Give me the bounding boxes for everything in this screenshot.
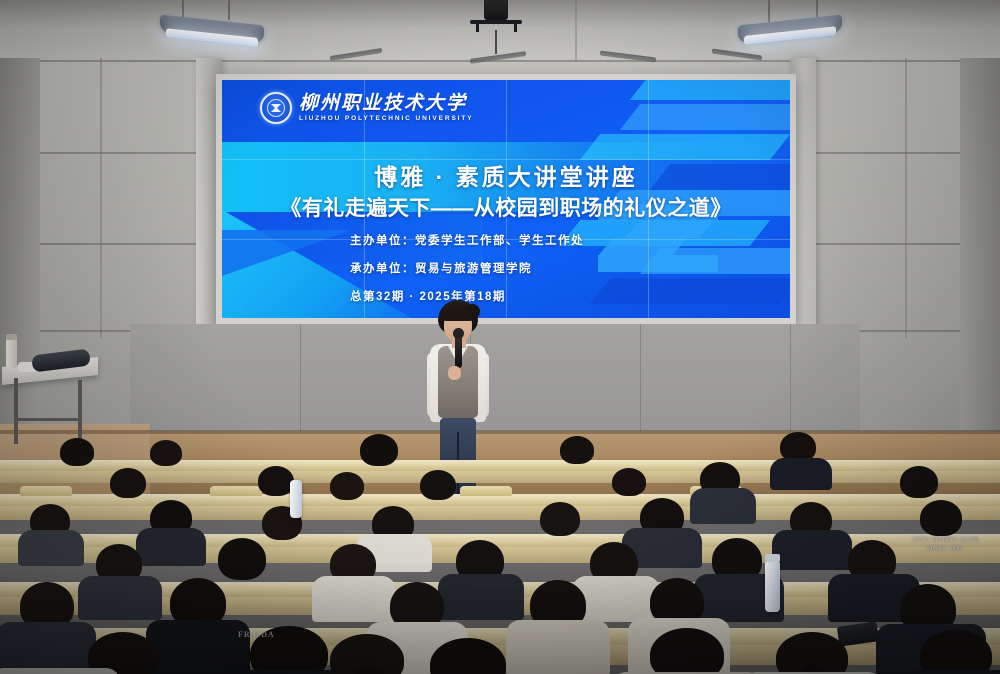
jacket-brand-text: ANTA SPORTS CLUB SINCE 1991 xyxy=(900,536,990,554)
audience-body xyxy=(772,530,852,570)
audience-head xyxy=(360,434,398,466)
slide-title: 博雅 · 素质大讲堂讲座 xyxy=(222,158,790,192)
led-video-wall[interactable]: 柳州职业技术大学 LIUZHOU POLYTECHNIC UNIVERSITY … xyxy=(216,74,796,324)
audience-head xyxy=(218,538,266,580)
bottle-cap xyxy=(765,554,780,562)
side-table-leg xyxy=(78,380,82,440)
slide-subtitle: 《有礼走遍天下——从校园到职场的礼仪之道》 xyxy=(222,192,790,222)
hoodie-brand-text: FRIEDA xyxy=(238,630,275,639)
audience-head xyxy=(60,438,94,466)
ceiling-projector xyxy=(470,0,522,36)
audience-head xyxy=(258,466,294,496)
audience-body xyxy=(136,528,206,566)
seat-back xyxy=(20,486,72,496)
led-screen-surface: 柳州职业技术大学 LIUZHOU POLYTECHNIC UNIVERSITY … xyxy=(222,80,790,318)
university-crest-icon xyxy=(260,92,292,124)
thermos-cap xyxy=(6,334,17,340)
audience-head xyxy=(560,436,594,464)
wall-seam xyxy=(905,58,907,338)
audience-body xyxy=(312,576,396,622)
meta-value: 贸易与旅游管理学院 xyxy=(415,263,532,275)
audience-body xyxy=(506,620,610,674)
audience-body xyxy=(690,488,756,524)
audience-head xyxy=(650,628,724,674)
audience-head xyxy=(900,466,938,498)
audience-body xyxy=(438,574,524,620)
handheld-microphone-icon xyxy=(455,334,462,368)
audience-head xyxy=(110,468,146,498)
audience-body xyxy=(18,530,84,566)
seat-back xyxy=(210,486,262,496)
desk-row xyxy=(0,460,1000,471)
lecture-hall-photo: 柳州职业技术大学 LIUZHOU POLYTECHNIC UNIVERSITY … xyxy=(0,0,1000,674)
meta-row-host: 承办单位：贸易与旅游管理学院 xyxy=(350,260,631,276)
university-name-en: LIUZHOU POLYTECHNIC UNIVERSITY xyxy=(299,116,474,123)
audience-head xyxy=(920,500,962,536)
wall-seam xyxy=(575,0,577,62)
audience-body xyxy=(896,670,1000,674)
audience-body xyxy=(0,622,96,674)
audience-body xyxy=(146,620,250,674)
meta-label: 主办单位： xyxy=(350,235,415,247)
white-thermos-bottle xyxy=(765,560,780,612)
wall-seam xyxy=(100,58,102,338)
right-wall-return xyxy=(960,58,1000,458)
audience-head xyxy=(420,470,456,500)
seat-back xyxy=(460,486,512,496)
pendant-light-left xyxy=(160,0,270,50)
university-name-cn: 柳州职业技术大学 xyxy=(299,94,474,113)
wall-seam xyxy=(0,60,1000,62)
side-table-rail xyxy=(14,418,82,421)
desk-bottle xyxy=(290,480,302,518)
desk-row-front xyxy=(0,471,1000,483)
audience-area: ANTA SPORTS CLUB SINCE 1991 FRIEDA xyxy=(0,432,1000,674)
audience-head xyxy=(330,472,364,500)
audience-head xyxy=(540,502,580,536)
audience-body xyxy=(0,668,120,674)
left-wall-return xyxy=(0,58,40,458)
meta-value: 党委学生工作部、学生工作处 xyxy=(415,235,584,247)
audience-head xyxy=(612,468,646,496)
audience-body xyxy=(770,458,832,490)
meta-label: 承办单位： xyxy=(350,263,415,275)
meta-row-organizer: 主办单位：党委学生工作部、学生工作处 xyxy=(350,232,631,248)
slide-content: 柳州职业技术大学 LIUZHOU POLYTECHNIC UNIVERSITY … xyxy=(222,80,790,318)
university-logo: 柳州职业技术大学 LIUZHOU POLYTECHNIC UNIVERSITY xyxy=(260,92,474,124)
thermos-bottle xyxy=(6,338,17,368)
pendant-light-right xyxy=(738,0,848,50)
audience-body xyxy=(78,576,162,620)
audience-head xyxy=(920,630,992,674)
audience-head xyxy=(150,440,182,466)
